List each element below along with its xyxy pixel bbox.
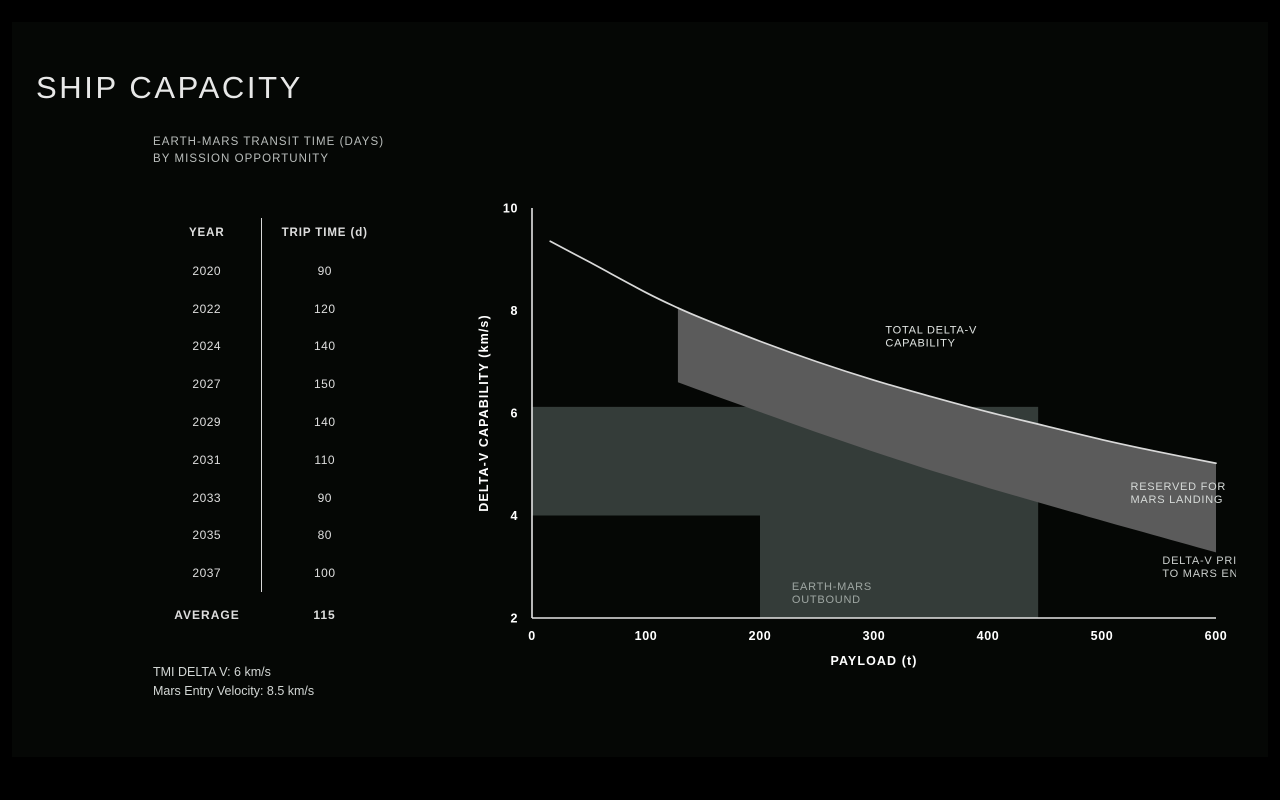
table-row: 2024140 — [153, 328, 388, 366]
table-row: 2027150 — [153, 365, 388, 403]
cell-year: 2037 — [153, 554, 261, 592]
annotation-line-1: TOTAL DELTA-V — [885, 325, 977, 337]
annotation-line-1: RESERVED FOR — [1131, 481, 1227, 493]
cell-trip-time: 110 — [261, 441, 388, 479]
x-axis-tick-label: 500 — [1091, 629, 1114, 643]
annotation-total-delta-v: TOTAL DELTA-VCAPABILITY — [885, 325, 977, 350]
column-header-trip-time: TRIP TIME (d) — [261, 218, 388, 252]
annotation-line-2: OUTBOUND — [792, 594, 861, 606]
annotation-line-2: CAPABILITY — [885, 338, 955, 350]
cell-trip-time: 80 — [261, 517, 388, 555]
cell-year: 2031 — [153, 441, 261, 479]
annotation-earth-mars-outbound: EARTH-MARSOUTBOUND — [792, 581, 872, 606]
chart-svg: 2468100100200300400500600PAYLOAD (t)DELT… — [446, 172, 1236, 702]
table-row: 2029140 — [153, 403, 388, 441]
table-row: 2037100 — [153, 554, 388, 592]
x-axis-tick-label: 600 — [1205, 629, 1228, 643]
cell-trip-time: 100 — [261, 554, 388, 592]
annotation-reserved-landing: RESERVED FORMARS LANDING — [1131, 481, 1227, 506]
y-axis-tick-label: 6 — [510, 407, 518, 421]
x-axis-tick-label: 300 — [863, 629, 886, 643]
cell-year: 2022 — [153, 290, 261, 328]
table-row: 203390 — [153, 479, 388, 517]
y-axis-tick-label: 4 — [510, 509, 518, 523]
annotation-line-1: DELTA-V PRIOR — [1162, 555, 1236, 567]
annotation-line-1: EARTH-MARS — [792, 581, 872, 593]
cell-average-value: 115 — [261, 592, 388, 632]
outbound-region-step-0 — [532, 407, 760, 516]
y-axis-tick-label: 2 — [510, 612, 518, 626]
x-axis-tick-label: 100 — [635, 629, 658, 643]
table-header: YEAR TRIP TIME (d) — [153, 218, 388, 252]
cell-trip-time: 120 — [261, 290, 388, 328]
cell-year: 2027 — [153, 365, 261, 403]
page-title: SHIP CAPACITY — [36, 70, 303, 106]
x-axis-tick-label: 0 — [528, 629, 536, 643]
table-row: 2031110 — [153, 441, 388, 479]
x-axis-title: PAYLOAD (t) — [830, 654, 917, 668]
footnote-tmi-delta-v: TMI DELTA V: 6 km/s — [153, 663, 314, 682]
annotation-delta-v-prior-entry: DELTA-V PRIORTO MARS ENTRY — [1162, 555, 1236, 580]
table-header-row: YEAR TRIP TIME (d) — [153, 218, 388, 252]
cell-year: 2020 — [153, 252, 261, 290]
table-row: 203580 — [153, 517, 388, 555]
x-axis-tick-label: 200 — [749, 629, 772, 643]
cell-year: 2024 — [153, 328, 261, 366]
table-row-average: AVERAGE115 — [153, 592, 388, 632]
chart-subtitle-line-1: EARTH-MARS TRANSIT TIME (DAYS) — [153, 134, 384, 151]
cell-trip-time: 140 — [261, 403, 388, 441]
y-axis-tick-label: 10 — [503, 202, 518, 216]
transit-time-table: YEAR TRIP TIME (d) 202090202212020241402… — [153, 218, 388, 632]
transit-time-table-wrapper: YEAR TRIP TIME (d) 202090202212020241402… — [153, 218, 388, 632]
chart-footnotes: TMI DELTA V: 6 km/s Mars Entry Velocity:… — [153, 663, 314, 701]
cell-average-label: AVERAGE — [153, 592, 261, 632]
footnote-mars-entry-velocity: Mars Entry Velocity: 8.5 km/s — [153, 682, 314, 701]
cell-trip-time: 140 — [261, 328, 388, 366]
column-header-year: YEAR — [153, 218, 261, 252]
y-axis-title: DELTA-V CAPABILITY (km/s) — [477, 314, 491, 511]
chart-subtitle-line-2: BY MISSION OPPORTUNITY — [153, 151, 384, 168]
y-axis-tick-label: 8 — [510, 304, 518, 318]
table-body: 2020902022120202414020271502029140203111… — [153, 252, 388, 632]
cell-trip-time: 90 — [261, 252, 388, 290]
cell-year: 2035 — [153, 517, 261, 555]
cell-trip-time: 90 — [261, 479, 388, 517]
chart-subtitle: EARTH-MARS TRANSIT TIME (DAYS) BY MISSIO… — [153, 134, 384, 168]
cell-trip-time: 150 — [261, 365, 388, 403]
delta-v-vs-payload-chart: 2468100100200300400500600PAYLOAD (t)DELT… — [446, 172, 1236, 702]
x-axis-tick-label: 400 — [977, 629, 1000, 643]
cell-year: 2029 — [153, 403, 261, 441]
slide-canvas: SHIP CAPACITY EARTH-MARS TRANSIT TIME (D… — [12, 22, 1268, 757]
table-row: 202090 — [153, 252, 388, 290]
cell-year: 2033 — [153, 479, 261, 517]
annotation-line-2: MARS LANDING — [1131, 494, 1224, 506]
annotation-line-2: TO MARS ENTRY — [1162, 568, 1236, 580]
table-row: 2022120 — [153, 290, 388, 328]
